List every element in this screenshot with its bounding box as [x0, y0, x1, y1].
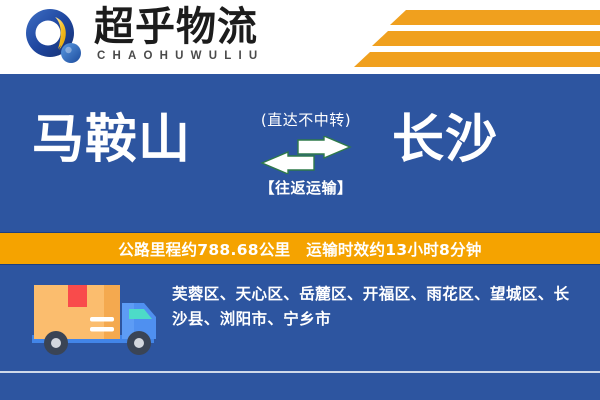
origin-city-label: 马鞍山: [32, 110, 191, 170]
direct-shipping-note: (直达不中转): [228, 110, 384, 130]
distance-duration-text: 公路里程约788.68公里 运输时效约13小时8分钟: [118, 238, 481, 260]
route-center-group: (直达不中转) 【往返运输】: [228, 110, 384, 210]
route-panel: 马鞍山 (直达不中转) 【往返运输】 长沙: [0, 74, 600, 232]
coverage-area-section: 芙蓉区、天心区、岳麓区、开福区、雨花区、望城区、长沙县、浏阳市、宁乡市: [0, 265, 600, 370]
round-trip-note: 【往返运输】: [228, 178, 384, 198]
header-stripe-middle: [372, 31, 600, 46]
footer-band: [0, 374, 600, 400]
brand-header: 超乎物流 CHAOHUWULIU: [0, 0, 600, 74]
header-stripe-top: [390, 10, 600, 25]
distance-duration-bar: 公路里程约788.68公里 运输时效约13小时8分钟: [0, 232, 600, 265]
delivery-truck-icon: [26, 277, 166, 359]
logistics-route-banner: 超乎物流 CHAOHUWULIU 马鞍山 (直达不中转) 【往返运输】 长沙 公…: [0, 0, 600, 400]
coverage-districts-text: 芙蓉区、天心区、岳麓区、开福区、雨花区、望城区、长沙县、浏阳市、宁乡市: [172, 282, 584, 332]
brand-name-en: CHAOHUWULIU: [97, 50, 264, 62]
circular-q-logistics-logo-icon: [25, 8, 87, 66]
destination-city-label: 长沙: [392, 110, 498, 170]
bidirectional-arrow-icon: [228, 136, 384, 174]
header-stripe-bottom: [354, 52, 600, 67]
brand-name-cn: 超乎物流: [94, 4, 258, 50]
